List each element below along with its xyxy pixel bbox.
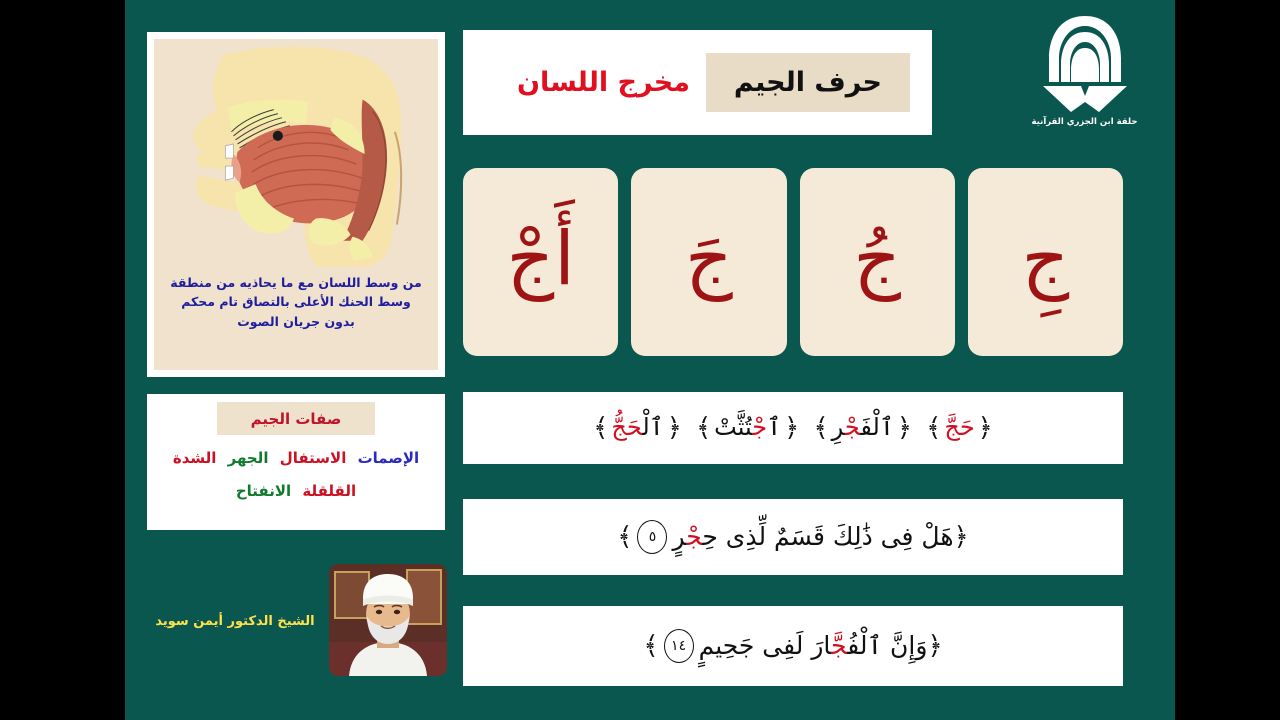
presenter-portrait-icon <box>329 564 447 676</box>
ornament-brace-close: ﴾ <box>926 415 941 441</box>
ornament-brace-open: ﴿ <box>978 415 993 441</box>
ornament-brace-close: ﴾ <box>643 633 658 659</box>
word-group: ﴿ حَجَّ ﴾ ﴿ ٱلْفَجْرِ ﴾ ﴿ ٱجْتُثَّتْ ﴾ ﴿… <box>463 414 1123 442</box>
verse-text: هَلْ فِى ذَٰلِكَ قَسَمٌ لِّذِى حِجْرٍ <box>672 522 953 552</box>
diagram-caption: من وسط اللسان مع ما يحاذيه من منطقة وسط … <box>154 271 438 331</box>
organization-logo: حلقة ابن الجزري القرآنية <box>1012 12 1157 140</box>
ornament-brace-open: ﴿ <box>784 415 799 441</box>
letter-glyph: جُ <box>853 222 901 302</box>
ornament-brace-close: ﴾ <box>813 415 828 441</box>
sifat-line-1: الإصمات الاستفال الجهر الشدة <box>155 448 437 468</box>
sifat-infitah: الانفتاح <box>236 482 291 500</box>
presenter-name: الشيخ الدكتور أيمن سويد <box>151 614 319 631</box>
presenter-block: الشيخ الدكتور أيمن سويد <box>147 556 447 686</box>
ornament-brace-open: ﴿ <box>954 524 969 550</box>
letter-card-ju-damma[interactable]: جُ <box>800 168 955 356</box>
example-word-alfajr: ﴿ ٱلْفَجْرِ ﴾ <box>813 414 912 442</box>
sifat-title: صفات الجيم <box>251 410 342 428</box>
word-examples-row: ﴿ حَجَّ ﴾ ﴿ ٱلْفَجْرِ ﴾ ﴿ ٱجْتُثَّتْ ﴾ ﴿… <box>463 392 1123 464</box>
ornament-brace-close: ﴾ <box>696 415 711 441</box>
header-bar: حرف الجيم مخرج اللسان <box>463 30 932 135</box>
ornament-brace-close: ﴾ <box>617 524 632 550</box>
verse-text: وَإِنَّ ٱلْفُجَّارَ لَفِى جَحِيمٍ <box>699 631 928 661</box>
letter-card-ja-fatha[interactable]: جَ <box>631 168 786 356</box>
header-letter-title: حرف الجيم <box>734 67 882 98</box>
example-word-ijtuththat: ﴿ ٱجْتُثَّتْ ﴾ <box>696 414 799 442</box>
sifat-ismat: الإصمات <box>358 449 420 467</box>
example-word-text: ٱجْتُثَّتْ <box>714 414 781 442</box>
header-letter-box: حرف الجيم <box>706 53 910 112</box>
example-word-alhajj: ﴿ ٱلْحَجُّ ﴾ <box>593 414 682 442</box>
logo-caption: حلقة ابن الجزري القرآنية <box>1012 117 1157 127</box>
ayah-number-marker: ١٤ <box>664 629 694 663</box>
sifat-line-2: القلقلة الانفتاح <box>155 481 437 501</box>
letter-glyph: جِ <box>1021 222 1069 302</box>
header-subject-title: مخرج اللسان <box>517 67 690 98</box>
presenter-portrait <box>329 564 447 676</box>
letter-card-ji-kasra[interactable]: جِ <box>968 168 1123 356</box>
sifat-panel: صفات الجيم الإصمات الاستفال الجهر الشدة … <box>147 394 445 530</box>
slide-stage: حلقة ابن الجزري القرآنية حرف الجيم مخرج … <box>0 0 1280 720</box>
articulation-diagram-panel: من وسط اللسان مع ما يحاذيه من منطقة وسط … <box>147 32 445 377</box>
sifat-title-box: صفات الجيم <box>217 402 376 435</box>
verse-row-hijr: ﴿ هَلْ فِى ذَٰلِكَ قَسَمٌ لِّذِى حِجْرٍ … <box>463 499 1123 575</box>
mouth-tongue-sagittal-diagram-icon <box>154 39 438 271</box>
ornament-brace-open: ﴿ <box>927 633 942 659</box>
ornament-brace-close: ﴾ <box>593 415 608 441</box>
example-word-text: ٱلْحَجُّ <box>611 414 663 442</box>
sifat-jahr: الجهر <box>228 449 269 467</box>
arch-book-icon <box>1037 12 1133 116</box>
letter-glyph: جَ <box>685 222 733 302</box>
ayah-number-marker: ٥ <box>637 520 667 554</box>
ornament-brace-open: ﴿ <box>667 415 682 441</box>
sifat-shiddah: الشدة <box>173 449 217 467</box>
sifat-qalqalah: القلقلة <box>302 482 356 500</box>
letter-card-aj[interactable]: أَجْ <box>463 168 618 356</box>
slide-canvas: حلقة ابن الجزري القرآنية حرف الجيم مخرج … <box>125 0 1175 720</box>
example-word-text: حَجَّ <box>944 414 974 442</box>
example-word-hajja: ﴿ حَجَّ ﴾ <box>926 414 993 442</box>
example-word-text: ٱلْفَجْرِ <box>832 414 894 442</box>
diagram-inner: من وسط اللسان مع ما يحاذيه من منطقة وسط … <box>154 39 438 370</box>
sifat-istifal: الاستفال <box>280 449 347 467</box>
verse-row-jaheem: ﴿ وَإِنَّ ٱلْفُجَّارَ لَفِى جَحِيمٍ ١٤ ﴾ <box>463 606 1123 686</box>
letter-cards-row: جِ جُ جَ أَجْ <box>463 168 1123 356</box>
ornament-brace-open: ﴿ <box>897 415 912 441</box>
letter-glyph: أَجْ <box>506 222 574 302</box>
